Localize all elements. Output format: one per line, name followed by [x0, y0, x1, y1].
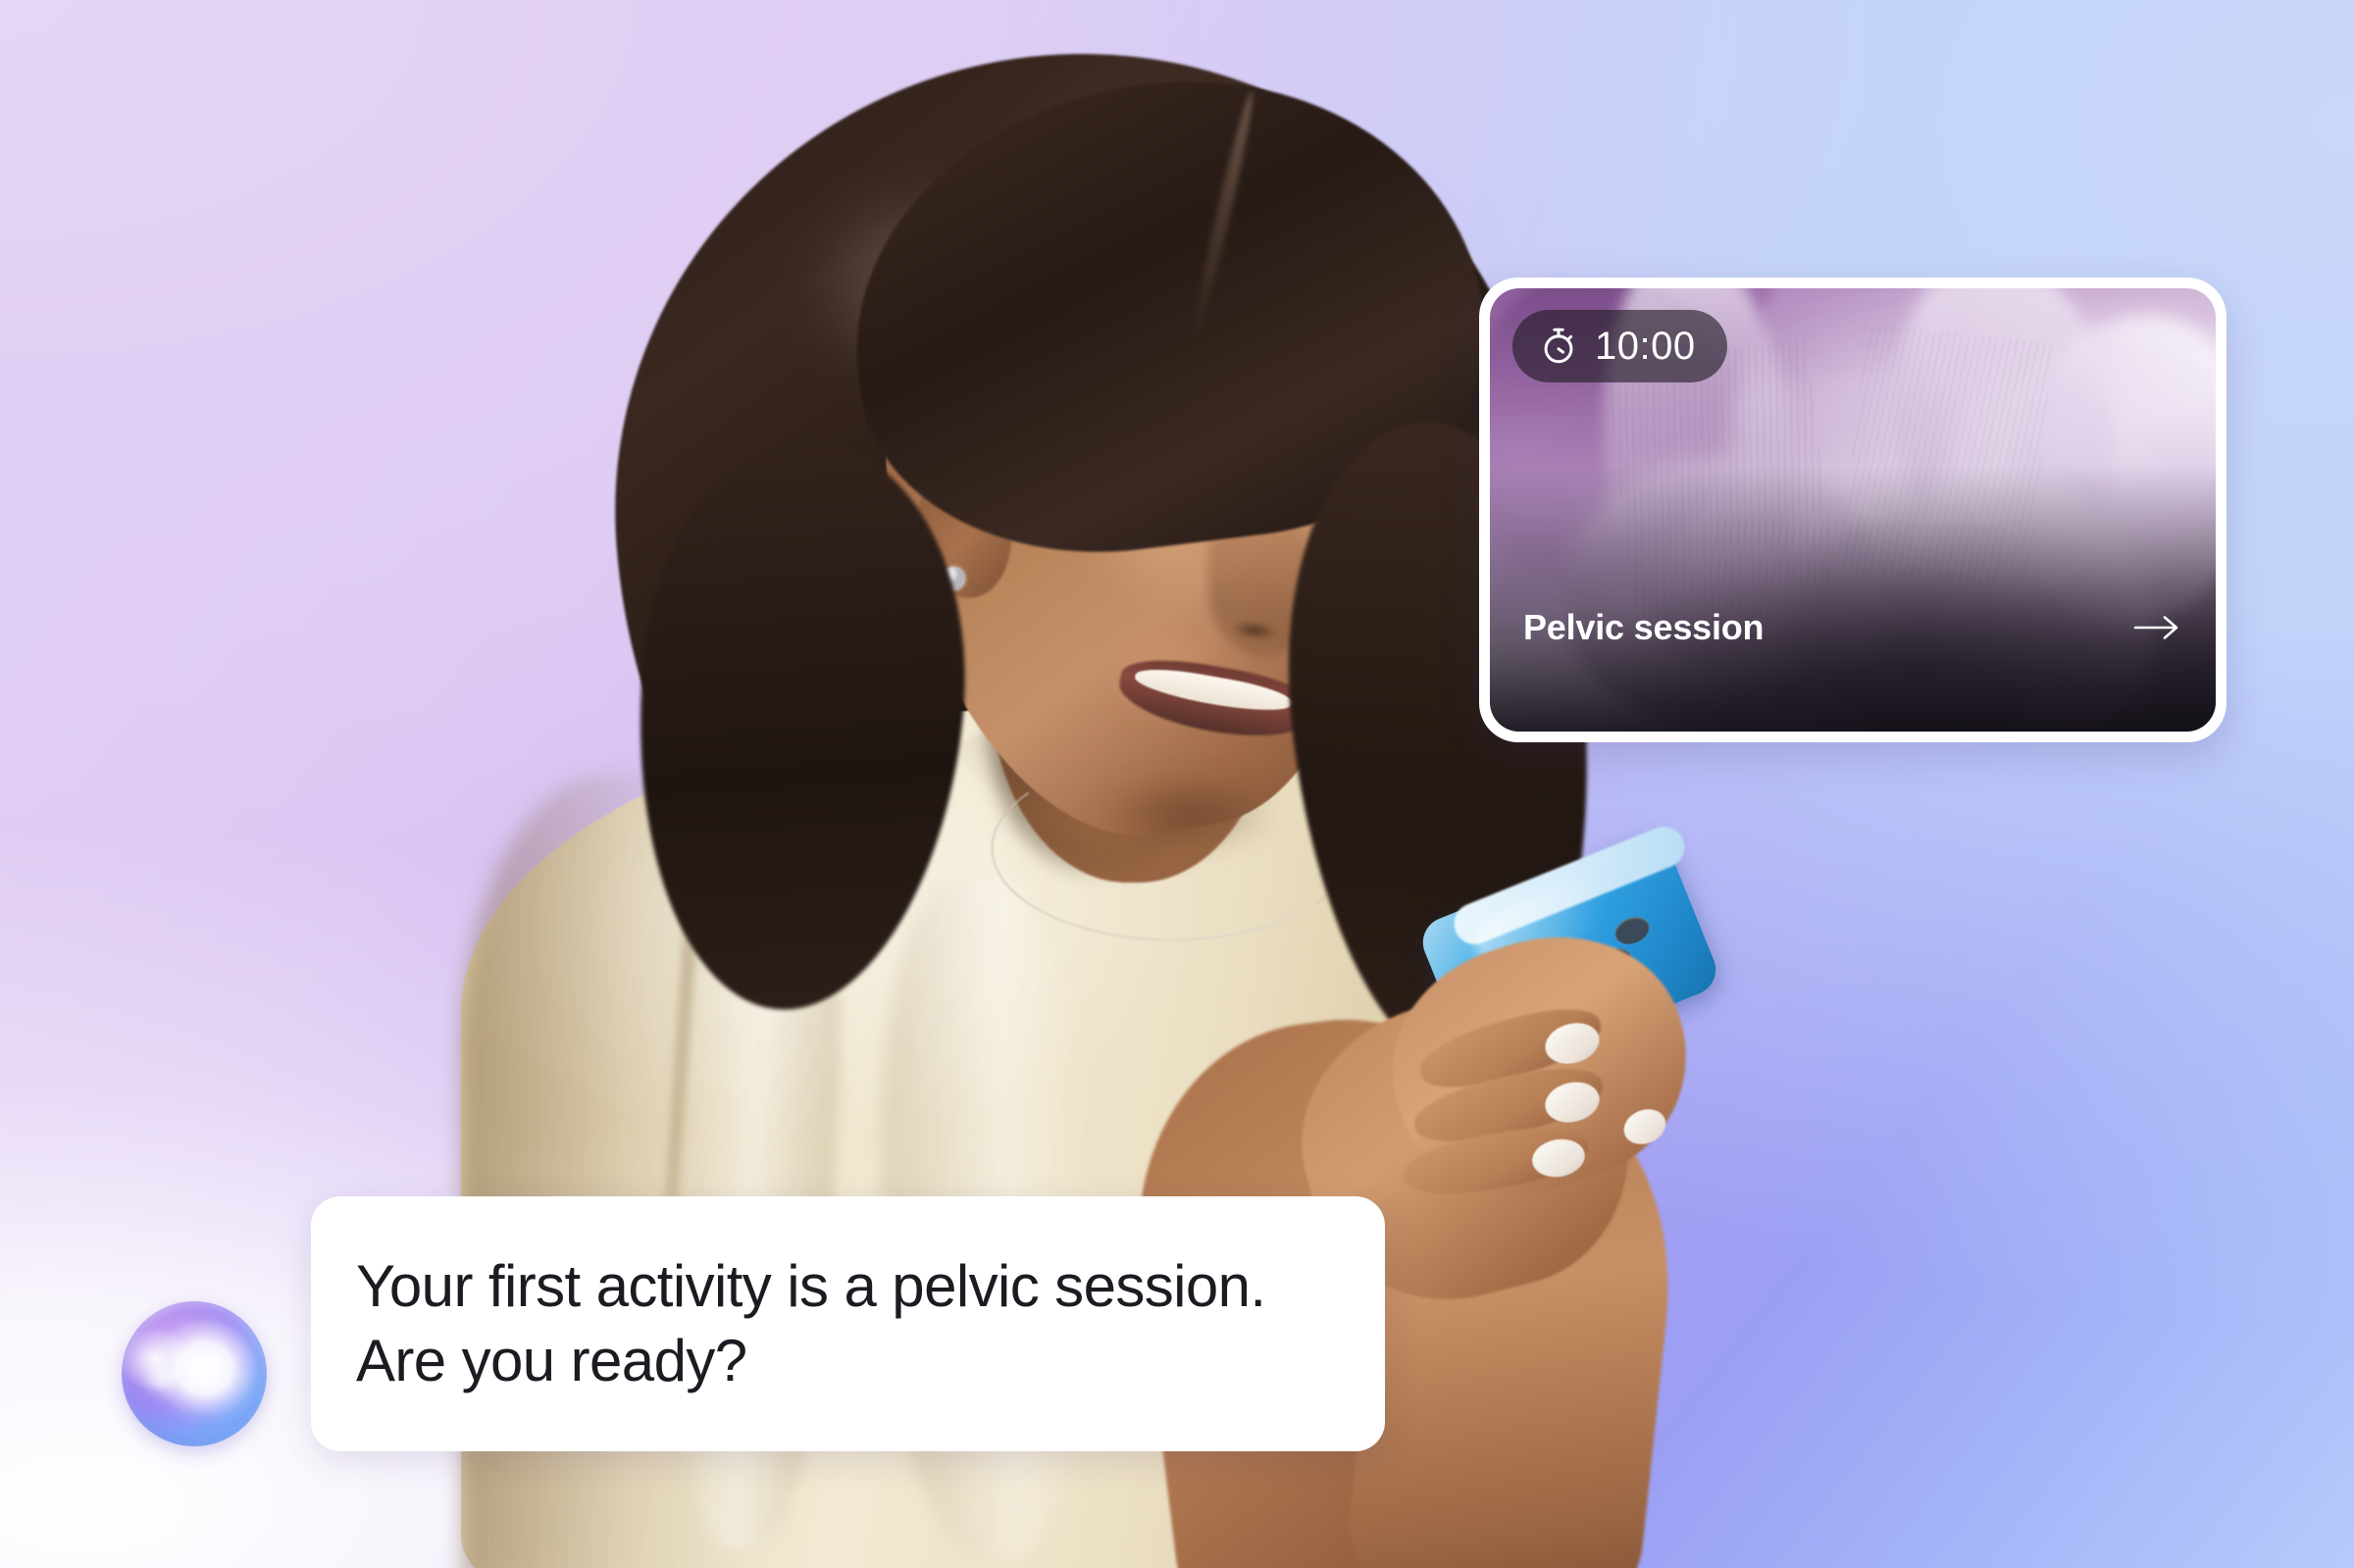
stopwatch-icon [1538, 326, 1579, 367]
timer-badge: 10:00 [1512, 310, 1727, 382]
timer-value: 10:00 [1595, 325, 1696, 369]
promo-screen: 10:00 Pelvic session Your first activity… [0, 0, 2354, 1568]
arrow-right-icon[interactable] [2131, 612, 2182, 643]
card-footer: Pelvic session [1490, 584, 2216, 732]
assistant-message-text: Your first activity is a pelvic session.… [356, 1249, 1340, 1397]
chin-shadow [1064, 760, 1309, 868]
orb-rim [122, 1301, 267, 1446]
card-title: Pelvic session [1523, 607, 1764, 648]
pelvic-session-card[interactable]: 10:00 Pelvic session [1479, 278, 2226, 742]
assistant-message-bubble: Your first activity is a pelvic session.… [311, 1196, 1385, 1451]
card-media-flower: 10:00 Pelvic session [1490, 288, 2216, 732]
assistant-orb-icon[interactable] [122, 1301, 267, 1446]
